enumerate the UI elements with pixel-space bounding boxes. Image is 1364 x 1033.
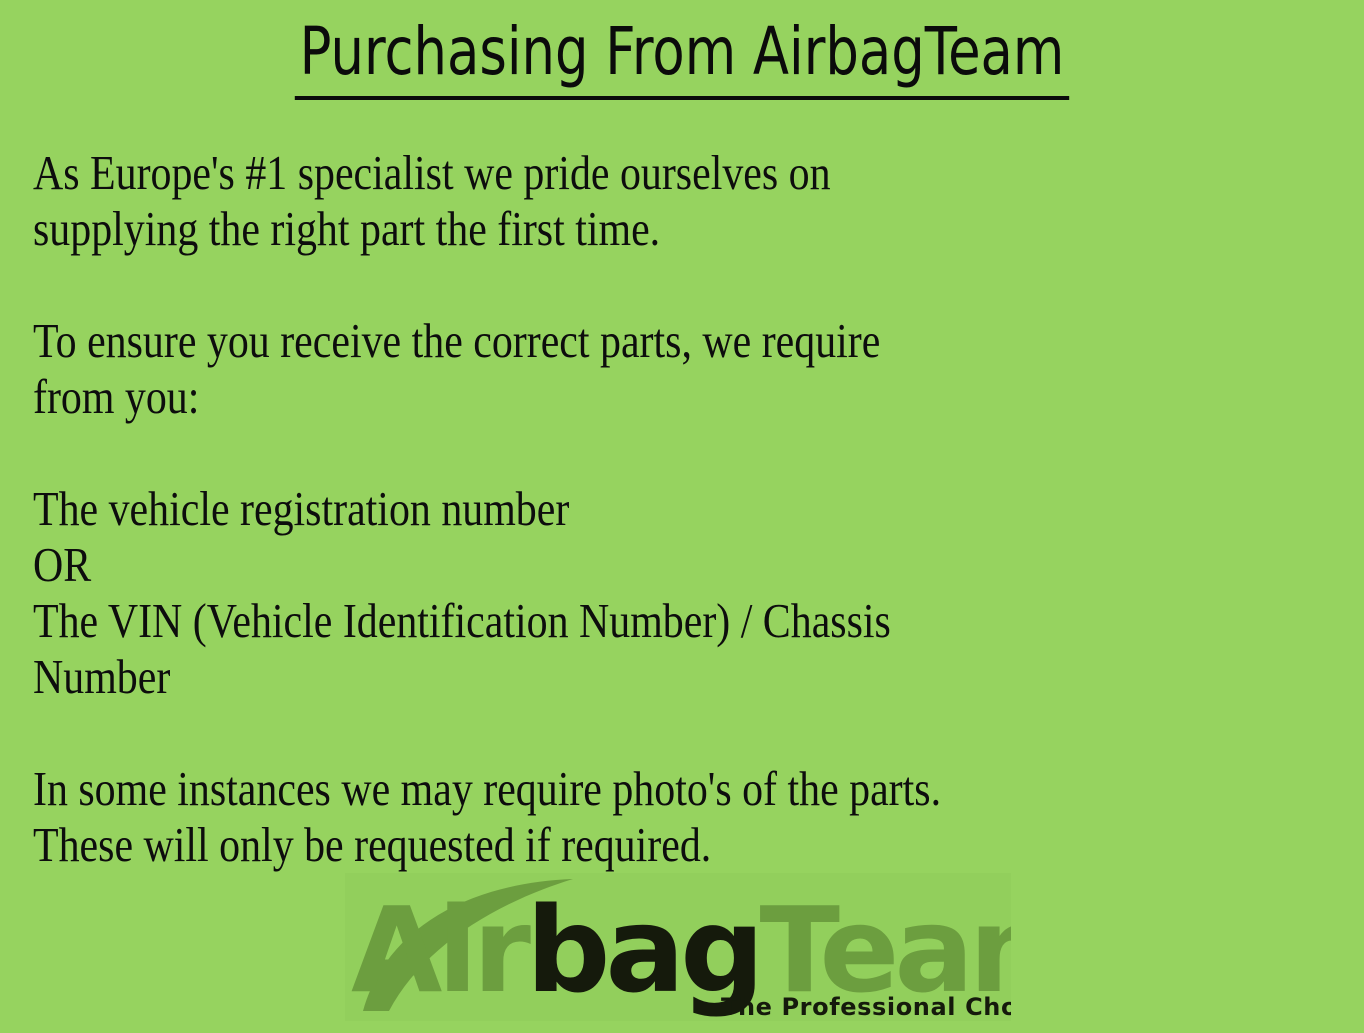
paragraph-requirements-list: The vehicle registration number OR The V… [33,481,1350,705]
text-line: The VIN (Vehicle Identification Number) … [33,593,1350,649]
text-line: supplying the right part the first time. [33,201,1350,257]
text-line: Number [33,649,1350,705]
paragraph-requirement-intro: To ensure you receive the correct parts,… [33,313,1350,425]
text-line: In some instances we may require photo's… [33,761,1350,817]
paragraph-photos-note: In some instances we may require photo's… [33,761,1350,873]
page-title-container: Purchasing From AirbagTeam [0,0,1364,100]
logo-tagline: The Professional Choice [721,993,1011,1021]
text-line: To ensure you receive the correct parts,… [33,313,1350,369]
paragraph-intro: As Europe's #1 specialist we pride ourse… [33,145,1350,257]
page-title: Purchasing From AirbagTeam [295,14,1069,100]
airbagteam-logo-inner: AirbagTeam The Professional Choice [345,873,1011,1021]
text-line: As Europe's #1 specialist we pride ourse… [33,145,1350,201]
text-line: These will only be requested if required… [33,817,1350,873]
text-line: from you: [33,369,1350,425]
airbagteam-logo-svg: AirbagTeam The Professional Choice [345,873,1011,1021]
slide-canvas: Purchasing From AirbagTeam As Europe's #… [0,0,1364,1033]
logo-word-air: Air [351,881,531,1019]
airbagteam-logo: AirbagTeam The Professional Choice [345,873,1011,1021]
text-line: OR [33,537,1350,593]
text-line: The vehicle registration number [33,481,1350,537]
body-copy: As Europe's #1 specialist we pride ourse… [33,145,1353,873]
